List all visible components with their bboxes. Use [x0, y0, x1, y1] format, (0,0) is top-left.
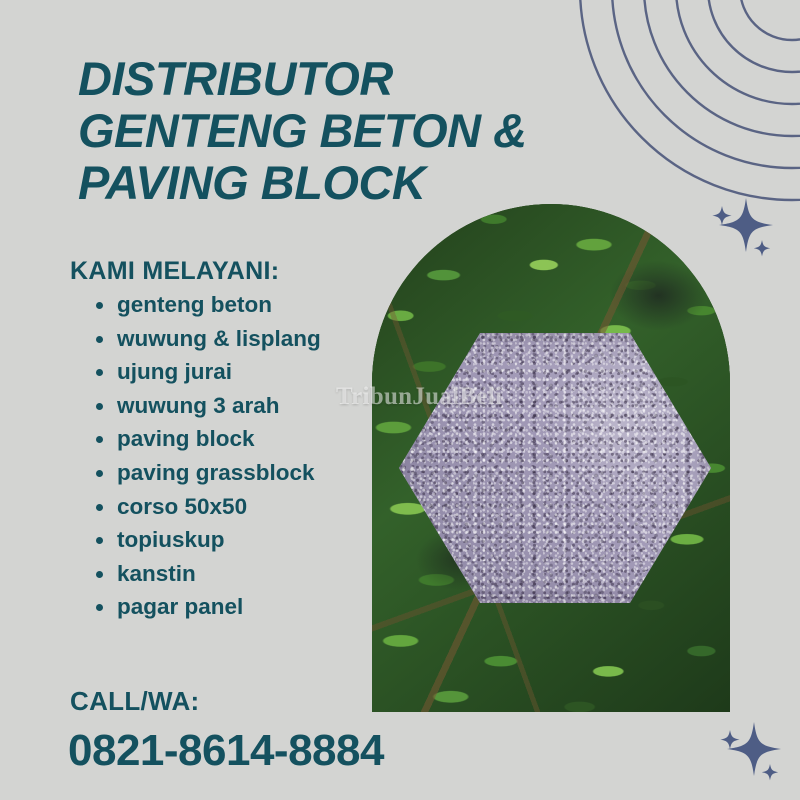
sparkle-decoration-bottom-right	[712, 718, 792, 798]
services-list: genteng beton wuwung & lisplang ujung ju…	[84, 288, 384, 624]
list-item: kanstin	[84, 557, 384, 591]
phone-number[interactable]: 0821-8614-8884	[68, 726, 384, 776]
list-item: paving block	[84, 422, 384, 456]
contact-label: CALL/WA:	[70, 686, 199, 717]
list-item: genteng beton	[84, 288, 384, 322]
list-item: ujung jurai	[84, 355, 384, 389]
page-title: DISTRIBUTOR GENTENG BETON & PAVING BLOCK	[78, 53, 638, 209]
list-item: wuwung 3 arah	[84, 389, 384, 423]
list-item: paving grassblock	[84, 456, 384, 490]
product-photo-arch	[372, 204, 730, 712]
promo-poster: DISTRIBUTOR GENTENG BETON & PAVING BLOCK…	[0, 0, 800, 800]
list-item: pagar panel	[84, 590, 384, 624]
list-item: topiuskup	[84, 523, 384, 557]
list-item: wuwung & lisplang	[84, 322, 384, 356]
list-item: corso 50x50	[84, 490, 384, 524]
services-heading: KAMI MELAYANI:	[70, 257, 279, 286]
